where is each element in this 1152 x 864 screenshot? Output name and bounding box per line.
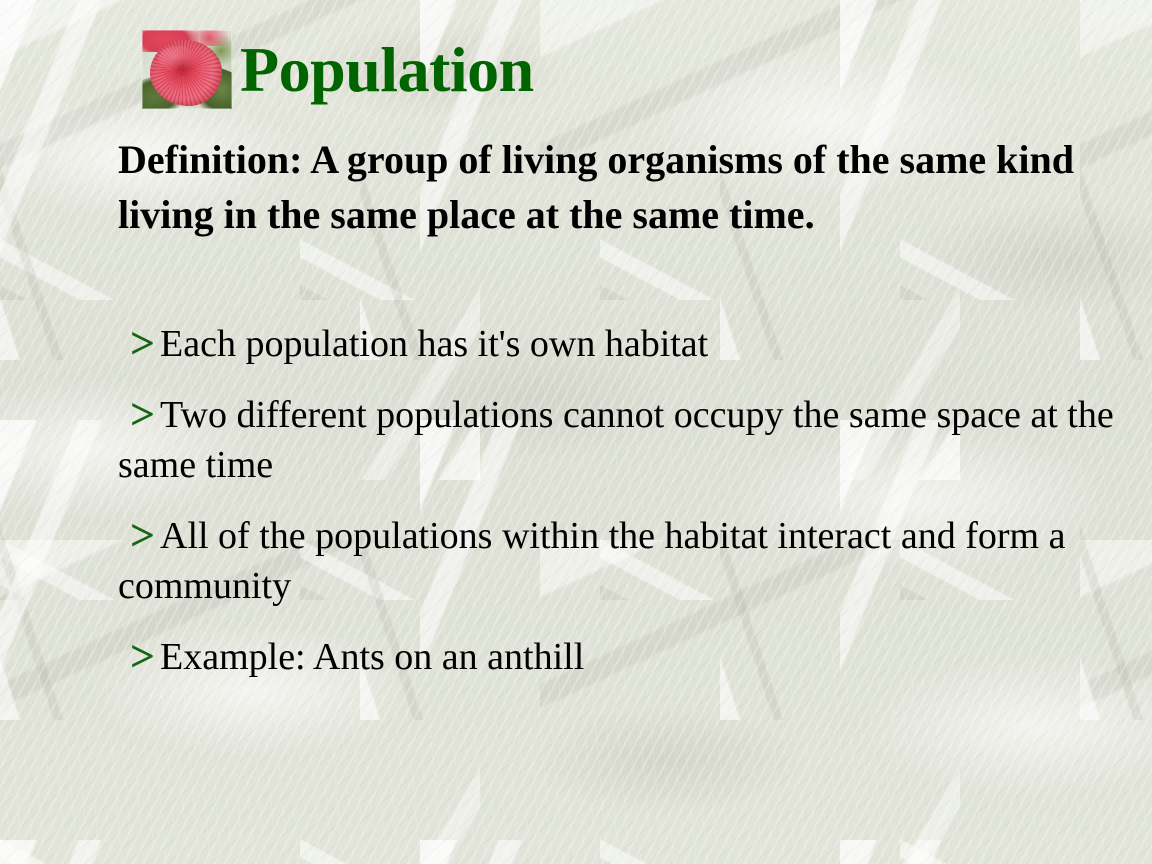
definition-paragraph: Definition: A group of living organisms … — [118, 133, 1088, 243]
bullet-list: >Each population has it's own habitat >T… — [118, 320, 1148, 704]
list-item-label: Example: Ants on an anthill — [160, 636, 584, 678]
list-item: >Two different populations cannot occupy… — [118, 391, 1148, 490]
list-item: >All of the populations within the habit… — [118, 512, 1148, 611]
title-row: Population — [142, 30, 534, 109]
list-item: >Each population has it's own habitat — [118, 320, 1148, 369]
list-item: >Example: Ants on an anthill — [118, 633, 1148, 682]
carnation-flower-image — [142, 30, 232, 109]
chevron-right-icon: > — [130, 629, 155, 684]
flower-image-border — [142, 30, 232, 109]
chevron-right-icon: > — [130, 316, 155, 371]
slide-canvas: Population Definition: A group of living… — [0, 0, 1152, 864]
list-item-label: All of the populations within the habita… — [118, 515, 1065, 606]
chevron-right-icon: > — [130, 387, 155, 442]
list-item-label: Each population has it's own habitat — [160, 323, 708, 365]
chevron-right-icon: > — [130, 508, 155, 563]
list-item-label: Two different populations cannot occupy … — [118, 394, 1114, 485]
page-title: Population — [240, 38, 534, 102]
slide-content: Population Definition: A group of living… — [0, 0, 1152, 864]
